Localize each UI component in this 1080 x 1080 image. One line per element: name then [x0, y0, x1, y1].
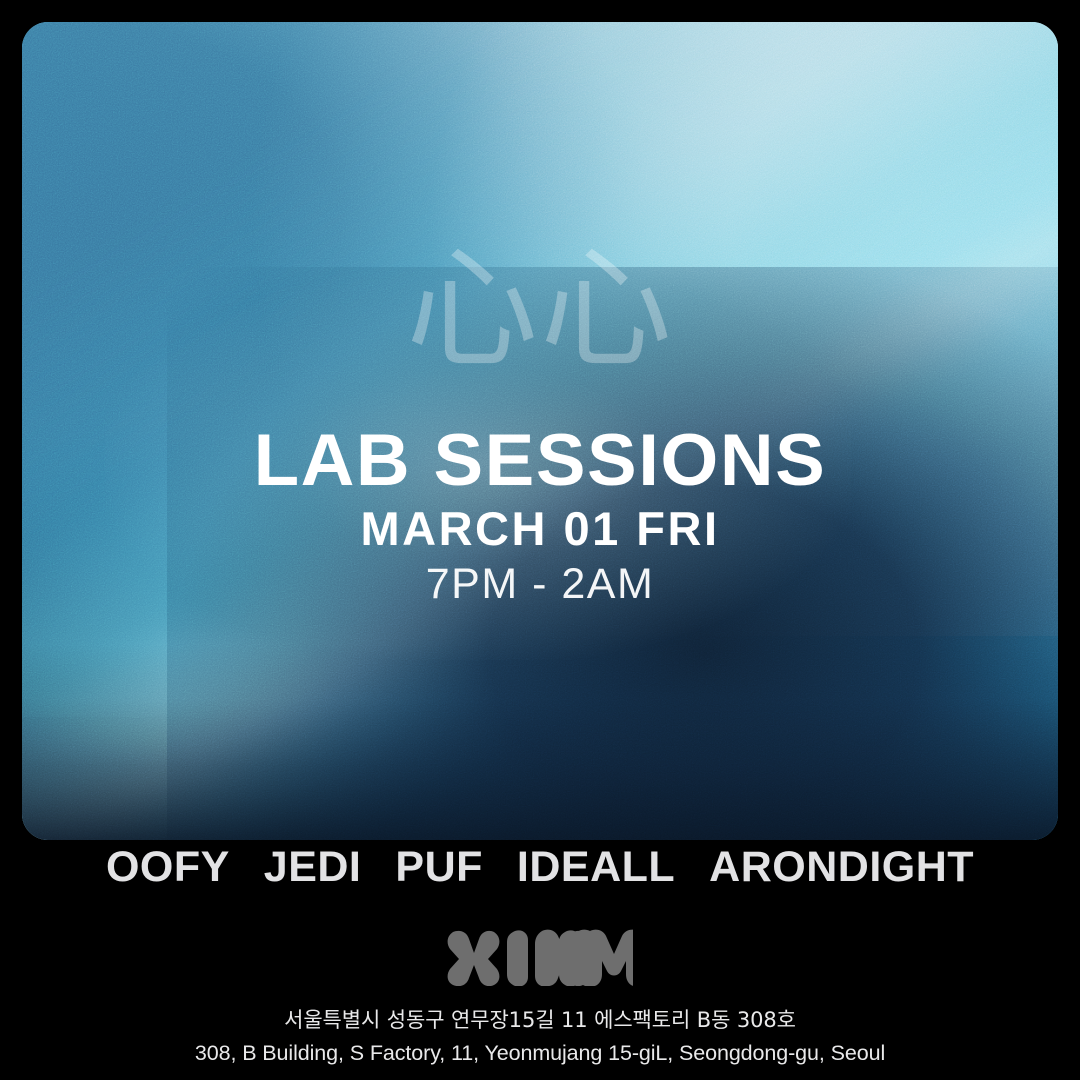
event-time: 7PM - 2AM — [0, 561, 1080, 607]
lineup-artist: IDEALL — [517, 843, 675, 892]
lineup-artist: OOFY — [106, 843, 230, 892]
brand-logo-container: XIMXIM — [0, 928, 1080, 990]
address-korean: 서울특별시 성동구 연무장15길 11 에스팩토리 B동 308호 — [0, 1004, 1080, 1037]
artist-lineup-row: OOFY JEDI PUF IDEALL ARONDIGHT — [0, 843, 1080, 891]
event-date: MARCH 01 FRI — [0, 504, 1080, 555]
event-title: LAB SESSIONS — [0, 424, 1080, 498]
headline-block: LAB SESSIONS MARCH 01 FRI 7PM - 2AM — [0, 424, 1080, 608]
address-english: 308, B Building, S Factory, 11, Yeonmuja… — [0, 1037, 1080, 1070]
gradient-bottom-shadow — [22, 644, 1058, 840]
ximxim-logo: XIMXIM — [447, 928, 633, 986]
lineup-artist: PUF — [395, 843, 483, 892]
lineup-artist: JEDI — [264, 843, 362, 892]
lineup-artist: ARONDIGHT — [709, 843, 974, 892]
venue-address-block: 서울특별시 성동구 연무장15길 11 에스팩토리 B동 308호 308, B… — [0, 1004, 1080, 1070]
poster-canvas: 心心 LAB SESSIONS MARCH 01 FRI 7PM - 2AM O… — [0, 0, 1080, 1080]
